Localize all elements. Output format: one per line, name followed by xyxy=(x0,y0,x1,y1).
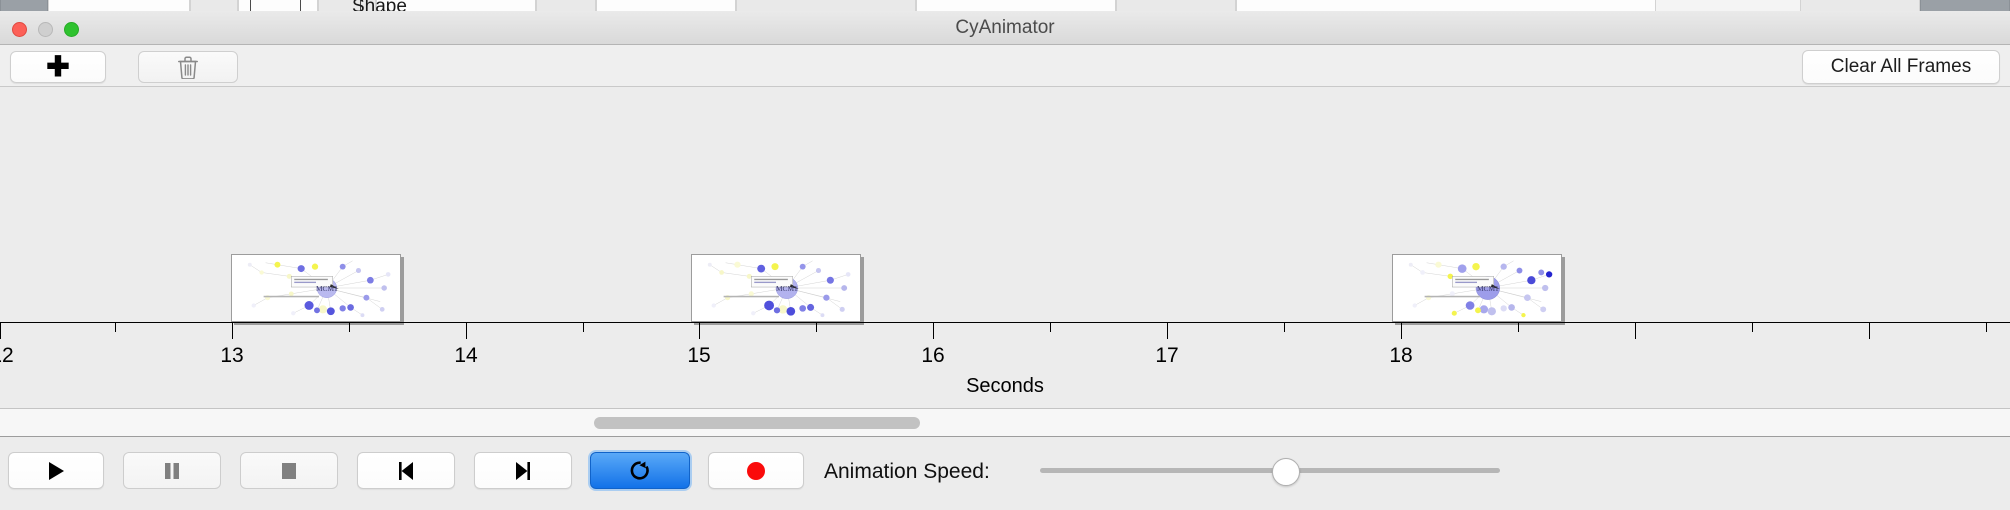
clear-all-frames-label: Clear All Frames xyxy=(1831,56,1971,78)
frame-thumbnail[interactable]: MCM1 xyxy=(1392,254,1562,322)
bg-segment xyxy=(596,0,736,11)
bg-segment xyxy=(0,0,48,11)
timeline-scrollbar[interactable] xyxy=(0,409,2010,437)
bg-segment xyxy=(48,0,190,11)
axis-tick-major xyxy=(1635,323,1636,339)
axis-tick-label: 16 xyxy=(921,344,944,368)
axis-tick-minor xyxy=(583,323,584,332)
bg-segment xyxy=(916,0,1116,11)
play-icon xyxy=(45,460,67,482)
frame-thumbnail[interactable]: MCM1 xyxy=(231,254,401,322)
axis-tick-major xyxy=(933,323,934,339)
axis-tick-major xyxy=(0,323,1,339)
toolbar: ✚ Clear All Frames xyxy=(0,45,2010,87)
delete-frame-button[interactable] xyxy=(138,51,238,83)
skip-forward-icon xyxy=(512,461,534,481)
axis-tick-minor xyxy=(349,323,350,332)
trash-icon xyxy=(178,56,198,79)
axis-tick-label: 12 xyxy=(0,344,14,368)
timeline-pane[interactable]: MCM1 xyxy=(0,87,2010,409)
axis-tick-minor xyxy=(1518,323,1519,332)
axis-tick-major xyxy=(699,323,700,339)
axis-tick-label: 14 xyxy=(454,344,477,368)
background-window-text: Shape xyxy=(352,0,407,11)
axis-tick-minor xyxy=(115,323,116,332)
network-preview-icon: MCM1 xyxy=(232,255,400,321)
svg-text:MCM1: MCM1 xyxy=(776,284,798,293)
axis-tick-minor xyxy=(1752,323,1753,332)
loop-button[interactable] xyxy=(590,452,690,489)
plus-icon: ✚ xyxy=(46,53,69,81)
axis-caption: Seconds xyxy=(0,375,2010,398)
window-title: CyAnimator xyxy=(0,11,2010,45)
bg-segment xyxy=(190,0,238,11)
network-preview-icon: MCM1 xyxy=(692,255,860,321)
axis-tick-major xyxy=(1401,323,1402,339)
axis-tick-major xyxy=(1167,323,1168,339)
bg-segment xyxy=(1800,0,1920,11)
axis-tick-label: 18 xyxy=(1389,344,1412,368)
bg-segment xyxy=(1920,0,2010,11)
axis-tick-label: 17 xyxy=(1155,344,1178,368)
axis-tick-label: 15 xyxy=(687,344,710,368)
clear-all-frames-button[interactable]: Clear All Frames xyxy=(1802,50,2000,84)
title-bar: CyAnimator xyxy=(0,11,2010,45)
axis-tick-major xyxy=(1869,323,1870,339)
record-button[interactable] xyxy=(708,452,804,489)
skip-to-end-button[interactable] xyxy=(474,452,572,489)
bg-segment xyxy=(1236,0,1656,11)
axis-tick-minor xyxy=(816,323,817,332)
axis-tick-major xyxy=(232,323,233,339)
pause-icon xyxy=(162,461,182,481)
bg-segment xyxy=(536,0,596,11)
pause-button[interactable] xyxy=(123,452,221,489)
frame-thumbnail[interactable]: MCM1 xyxy=(691,254,861,322)
animation-speed-slider[interactable] xyxy=(1040,468,1500,473)
stop-icon xyxy=(279,461,299,481)
animation-speed-slider-thumb[interactable] xyxy=(1272,458,1300,486)
bg-segment xyxy=(1116,0,1236,11)
play-button[interactable] xyxy=(8,452,104,489)
background-window-strip: Shape xyxy=(0,0,2010,11)
skip-to-start-button[interactable] xyxy=(357,452,455,489)
animation-speed-label: Animation Speed: xyxy=(824,460,990,484)
axis-tick-minor xyxy=(1284,323,1285,332)
timeline-axis xyxy=(0,322,2010,323)
skip-back-icon xyxy=(395,461,417,481)
axis-tick-minor xyxy=(1050,323,1051,332)
transport-bar: Animation Speed: xyxy=(0,438,2010,510)
svg-text:MCM1: MCM1 xyxy=(316,284,338,293)
axis-tick-major xyxy=(466,323,467,339)
scrollbar-thumb[interactable] xyxy=(594,417,920,429)
svg-text:MCM1: MCM1 xyxy=(1477,284,1499,293)
network-preview-icon: MCM1 xyxy=(1393,255,1561,321)
record-icon xyxy=(745,460,767,482)
loop-icon xyxy=(628,459,652,483)
cyanimator-window: Shape CyAnimator ✚ Clear All Frames xyxy=(0,0,2010,510)
axis-tick-label: 13 xyxy=(220,344,243,368)
axis-tick-minor xyxy=(1986,323,1987,332)
bg-segment xyxy=(736,0,916,11)
add-frame-button[interactable]: ✚ xyxy=(10,51,106,83)
stop-button[interactable] xyxy=(240,452,338,489)
